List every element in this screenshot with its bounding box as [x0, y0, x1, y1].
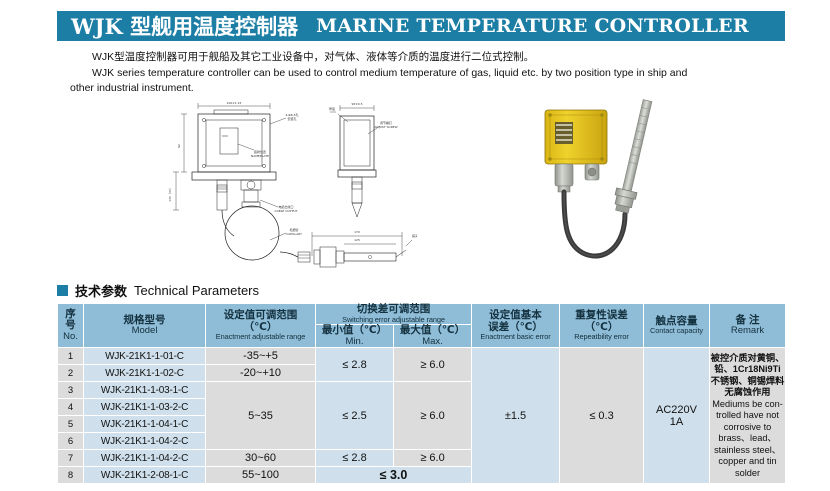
table-header-row-1: 序 号 No. 规格型号 Model 设定值可调范围 （℃） Enactment…	[58, 304, 786, 325]
cell-model: WJK-21K1-1-04-1-C	[84, 416, 206, 433]
cell-capacity-line1: AC220V	[644, 404, 709, 416]
cell-no: 6	[58, 433, 84, 450]
col-header-model: 规格型号 Model	[84, 304, 206, 348]
svg-text:厚度: 厚度	[329, 106, 335, 111]
datasheet-page: WJK 型舰用温度控制器 MARINE TEMPERATURE CONTROLL…	[0, 0, 830, 491]
cell-range: 5~35	[206, 382, 316, 450]
col-header-switching-cn: 切换差可调范围	[316, 304, 471, 316]
intro-line-en-2: other industrial instrument.	[70, 81, 785, 97]
col-header-basic-cn1: 设定值基本	[472, 310, 559, 322]
cell-model: WJK-21K1-1-04-2-C	[84, 450, 206, 467]
svg-text:170: 170	[354, 230, 360, 234]
cell-capacity-line2: 1A	[644, 416, 709, 428]
intro-line-en-1: WJK series temperature controller can be…	[70, 66, 785, 82]
col-header-model-en: Model	[84, 326, 205, 337]
col-header-repeat-cn: 重复性误差	[560, 310, 643, 322]
col-header-repeat-en: Repeatbility error	[560, 333, 643, 341]
cell-range: -35~+5	[206, 348, 316, 365]
col-header-basic-error: 设定值基本 误差（℃） Enactment basic error	[472, 304, 560, 348]
page-title-cn: WJK 型舰用温度控制器	[71, 11, 298, 41]
col-header-range-cn: 设定值可调范围	[206, 310, 315, 322]
cell-range: 30~60	[206, 450, 316, 467]
cell-switch-min: ≤ 2.5	[316, 382, 394, 450]
cell-model: WJK-21K1-1-01-C	[84, 348, 206, 365]
product-photo	[533, 96, 723, 286]
dimension-drawing: 100±1.15 92 135（35） 4-Φ6.5孔 安装孔 铭牌位置 NAM…	[162, 100, 417, 282]
section-title-en: Technical Parameters	[134, 283, 259, 298]
svg-text:92: 92	[177, 144, 181, 148]
intro-line-cn: WJK型温度控制器可用于舰船及其它工业设备中，对气体、液体等介质的温度进行二位式…	[70, 50, 785, 66]
cell-switch-max: ≥ 6.0	[394, 348, 472, 382]
col-header-repeat-error: 重复性误差 （℃） Repeatbility error	[560, 304, 644, 348]
section-marker-icon	[57, 285, 68, 296]
cell-no: 8	[58, 467, 84, 484]
cell-no: 7	[58, 450, 84, 467]
svg-text:NAMEPLATE: NAMEPLATE	[251, 154, 269, 158]
col-header-switching: 切换差可调范围 Switching error adjustable range	[316, 304, 472, 325]
section-title-cn: 技术参数	[75, 281, 127, 300]
col-header-switching-en: Switching error adjustable range	[316, 316, 471, 324]
table-row: 1 WJK-21K1-1-01-C -35~+5 ≤ 2.8 ≥ 6.0 ±1.…	[58, 348, 786, 365]
cell-remark: 被控介质对黄铜、铅、1Cr18Ni9Ti 不锈钢、铜锡焊料无腐蚀作用 Mediu…	[710, 348, 786, 484]
svg-text:95±0.5: 95±0.5	[351, 102, 362, 106]
cell-model: WJK-21K1-1-02-C	[84, 365, 206, 382]
svg-text:CABLE OUTPUT: CABLE OUTPUT	[275, 209, 298, 213]
cell-model: WJK-21K1-1-04-2-C	[84, 433, 206, 450]
col-header-range-en: Enactment adjustable range	[206, 333, 315, 341]
cell-range: -20~+10	[206, 365, 316, 382]
col-header-switching-min: 最小值（℃） Min.	[316, 325, 394, 348]
cell-model: WJK-21K1-1-03-1-C	[84, 382, 206, 399]
col-header-capacity: 触点容量 Contact capacity	[644, 304, 710, 348]
svg-text:125: 125	[354, 238, 360, 242]
svg-text:100±1.15: 100±1.15	[227, 101, 242, 105]
col-header-max-en: Max.	[394, 337, 471, 348]
col-header-no: 序 号 No.	[58, 304, 84, 348]
cell-switch-merged: ≤ 3.0	[316, 467, 472, 484]
page-title-bar: WJK 型舰用温度控制器 MARINE TEMPERATURE CONTROLL…	[57, 11, 785, 41]
cell-model: WJK-21K1-2-08-1-C	[84, 467, 206, 484]
cell-no: 5	[58, 416, 84, 433]
cell-switch-min: ≤ 2.8	[316, 348, 394, 382]
cell-switch-max: ≥ 6.0	[394, 382, 472, 450]
col-header-capacity-en: Contact capacity	[644, 327, 709, 335]
cell-no: 2	[58, 365, 84, 382]
cell-repeat-error: ≤ 0.3	[560, 348, 644, 484]
cell-switch-max: ≥ 6.0	[394, 450, 472, 467]
cell-remark-cn: 被控介质对黄铜、铅、1Cr18Ni9Ti 不锈钢、铜锡焊料无腐蚀作用	[710, 353, 785, 399]
cell-range: 55~100	[206, 467, 316, 484]
cell-switch-min: ≤ 2.8	[316, 450, 394, 467]
col-header-remark-en: Remark	[710, 326, 785, 337]
svg-text:ADJUST SCREW: ADJUST SCREW	[374, 125, 397, 129]
col-header-switching-max: 最大值（℃） Max.	[394, 325, 472, 348]
page-title-en: MARINE TEMPERATURE CONTROLLER	[316, 15, 749, 37]
cell-no: 3	[58, 382, 84, 399]
col-header-remark: 备 注 Remark	[710, 304, 786, 348]
svg-text:安装孔: 安装孔	[287, 116, 296, 121]
technical-parameters-table: 序 号 No. 规格型号 Model 设定值可调范围 （℃） Enactment…	[57, 303, 785, 484]
col-header-min-en: Min.	[316, 337, 393, 348]
intro-paragraph: WJK型温度控制器可用于舰船及其它工业设备中，对气体、液体等介质的温度进行二位式…	[70, 50, 785, 97]
svg-text:探头: 探头	[412, 233, 417, 238]
cell-capacity: AC220V 1A	[644, 348, 710, 484]
col-header-range: 设定值可调范围 （℃） Enactment adjustable range	[206, 304, 316, 348]
svg-text:CAPILLARY: CAPILLARY	[286, 232, 302, 236]
cell-model: WJK-21K1-1-03-2-C	[84, 399, 206, 416]
col-header-no-en: No.	[58, 332, 83, 343]
section-heading: 技术参数 Technical Parameters	[57, 281, 259, 300]
svg-text:135（35）: 135（35）	[168, 186, 172, 202]
col-header-basic-en: Enactment basic error	[472, 333, 559, 341]
cell-no: 4	[58, 399, 84, 416]
cell-basic-error: ±1.5	[472, 348, 560, 484]
cell-remark-en: Mediums be con-trolled have not corrosiv…	[710, 399, 785, 480]
cell-no: 1	[58, 348, 84, 365]
